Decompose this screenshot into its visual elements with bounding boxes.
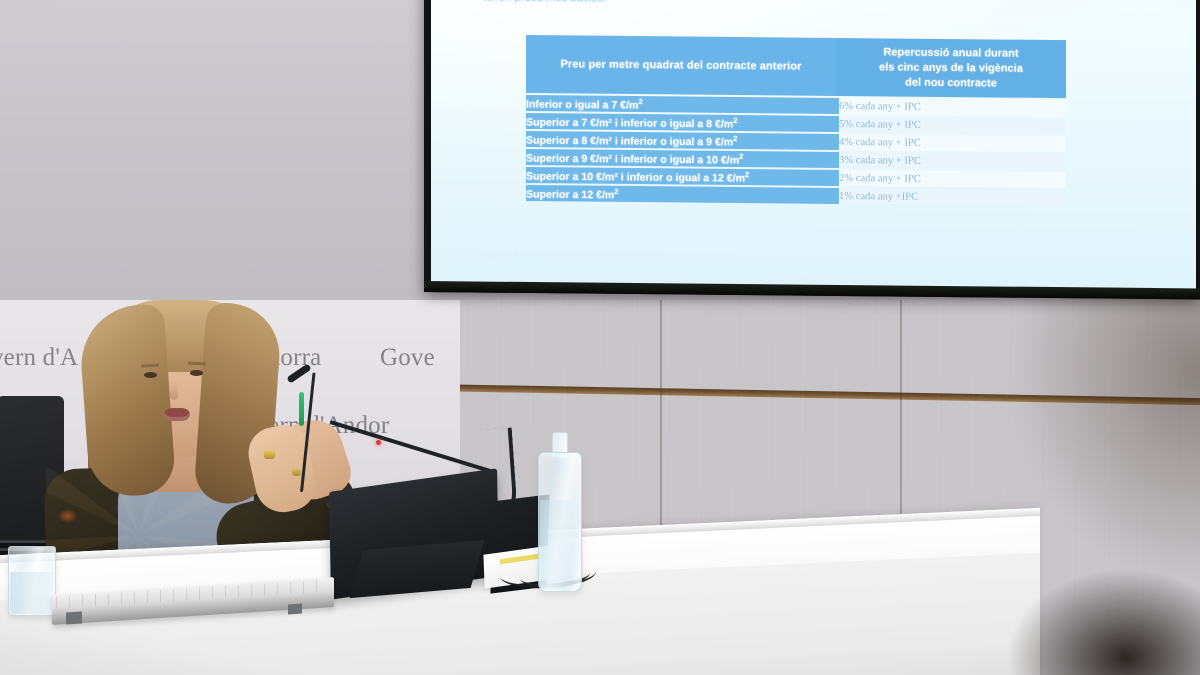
nose xyxy=(170,382,178,400)
price-range-text: Superior a 9 €/m² i inferior o igual a 1… xyxy=(526,152,739,166)
slide-lead-paragraph: a màxim amb els percentatges legals esta… xyxy=(483,0,1183,11)
microphone-green-indicator-icon xyxy=(299,392,304,426)
screen-panel: a màxim amb els percentatges legals esta… xyxy=(431,0,1196,289)
superscript-2: 2 xyxy=(638,97,642,106)
slide-footer-logo: Govern d'Andorra xyxy=(487,252,547,260)
keyboard-foot xyxy=(66,611,82,624)
cell-price-range: Superior a 7 €/m² i inferior o igual a 8… xyxy=(526,113,836,132)
price-range-text: Superior a 7 €/m² i inferior o igual a 8… xyxy=(526,116,733,130)
cell-price-range: Superior a 12 €/m2 xyxy=(526,185,836,204)
superscript-2: 2 xyxy=(739,152,743,161)
mouth-speaking xyxy=(164,408,190,421)
keyboard-foot xyxy=(288,604,302,615)
cell-price-range: Superior a 10 €/m² i inferior o igual a … xyxy=(526,167,836,186)
cell-price-range: Superior a 9 €/m² i inferior o igual a 1… xyxy=(526,149,836,168)
rent-increase-table: Preu per metre quadrat del contracte ant… xyxy=(526,33,1066,208)
cell-price-range: Inferior o igual a 7 €/m2 xyxy=(526,95,836,114)
cell-annual-rate: 3% cada any + IPC xyxy=(836,152,1066,170)
hair-front-left xyxy=(77,303,176,499)
press-conference-scene: Govern d'A Govern d'Andorra Gove orra Go… xyxy=(0,0,1200,675)
microphone-red-led-icon xyxy=(376,440,381,445)
ring-gold xyxy=(292,468,301,476)
price-range-text: Superior a 12 €/m xyxy=(526,188,614,201)
price-range-text: Superior a 10 €/m² i inferior o igual a … xyxy=(526,170,745,184)
table-header-row: Preu per metre quadrat del contracte ant… xyxy=(526,35,1066,98)
cell-annual-rate: 6% cada any + IPC xyxy=(836,98,1066,116)
superscript-2: 2 xyxy=(745,170,749,179)
backdrop-text: Gove xyxy=(380,344,435,371)
presentation-screen: a màxim amb els percentatges legals esta… xyxy=(424,0,1200,299)
cell-annual-rate: 5% cada any + IPC xyxy=(836,116,1066,134)
cell-annual-rate: 2% cada any + IPC xyxy=(836,170,1066,188)
cell-annual-rate: 4% cada any + IPC xyxy=(836,134,1066,152)
price-range-text: Superior a 8 €/m² i inferior o igual a 9… xyxy=(526,134,733,148)
superscript-2: 2 xyxy=(733,116,737,125)
slide-lead-line-2: l'increment serà més alt en els contract… xyxy=(483,0,1183,5)
price-range-text: Inferior o igual a 7 €/m xyxy=(526,98,638,111)
table-head: Preu per metre quadrat del contracte ant… xyxy=(526,35,1066,98)
slide-content: a màxim amb els percentatges legals esta… xyxy=(431,0,1196,289)
cell-annual-rate: 1% cada any +IPC xyxy=(836,188,1066,206)
foreground-dark-object xyxy=(940,515,1200,675)
superscript-2: 2 xyxy=(733,134,737,143)
cell-price-range: Superior a 8 €/m² i inferior o igual a 9… xyxy=(526,131,836,150)
ring-gold xyxy=(264,450,275,459)
eye-left xyxy=(144,372,157,378)
header-line-3: del nou contracte xyxy=(836,74,1066,91)
bottle-water-level xyxy=(540,500,580,590)
table-row: Superior a 12 €/m2 1% cada any +IPC xyxy=(526,185,1066,206)
superscript-2: 2 xyxy=(614,187,618,196)
glass-water-level xyxy=(10,572,54,614)
eye-right xyxy=(190,370,203,376)
column-header-annual-impact: Repercussió anual durant els cinc anys d… xyxy=(836,38,1066,98)
column-header-price: Preu per metre quadrat del contracte ant… xyxy=(526,35,836,96)
table-body: Inferior o igual a 7 €/m2 6% cada any + … xyxy=(526,95,1066,206)
